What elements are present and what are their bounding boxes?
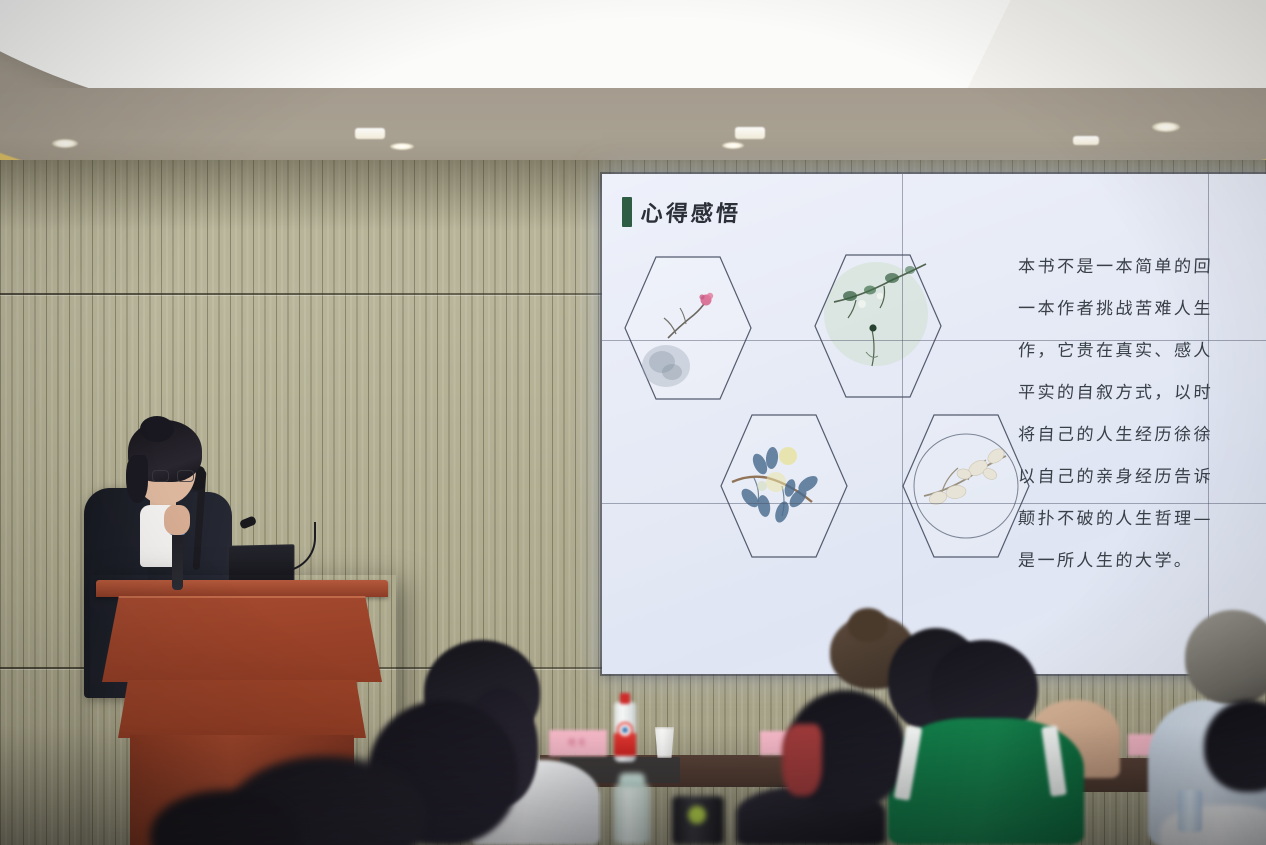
slide-title: 心得感悟: [640, 196, 743, 228]
hex-green-round-flowers: [814, 252, 942, 400]
lecture-hall-photo: 心得感悟: [0, 0, 1266, 845]
slide-body-line: 作，它贵在真实、感人: [1018, 330, 1266, 372]
namecard-left: 姓名: [549, 730, 607, 756]
ceiling-downlight: [390, 143, 414, 150]
bottle-cap: [620, 693, 630, 704]
slide-body-text: 本书不是一本简单的回一本作者挑战苦难人生作，它贵在真实、感人平实的自叙方式，以时…: [1018, 246, 1266, 582]
ceiling-downlight: [1152, 122, 1180, 132]
podium-front-panel: [102, 596, 382, 682]
slide-body-line: 本书不是一本简单的回: [1018, 246, 1266, 288]
podium-mid-panel: [118, 680, 366, 738]
audience-head-grey-hair: [1185, 610, 1266, 704]
presenter-hair-side: [126, 455, 148, 503]
ceiling-downlight: [1073, 136, 1099, 145]
bag-accent-dot: [688, 806, 706, 824]
led-bezel-row-1: [602, 340, 1266, 341]
ceiling-downlight: [722, 142, 744, 149]
hex-blue-leaves: [720, 412, 848, 560]
ceiling-downlight: [52, 139, 78, 148]
led-bezel-row-2: [602, 503, 1266, 504]
led-bezel-column-2: [1208, 174, 1209, 674]
slide-body-line: 是一所人生的大学。: [1018, 540, 1266, 582]
slide-body-line: 将自己的人生经历徐徐: [1018, 414, 1266, 456]
presenter-hand: [164, 505, 190, 535]
ceiling-downlight: [355, 128, 385, 139]
led-video-wall: 心得感悟: [602, 174, 1266, 674]
podium-top-surface: [96, 580, 388, 597]
audience-water-bottle-right: [1178, 790, 1202, 832]
slide-body-line: 一本作者挑战苦难人生: [1018, 288, 1266, 330]
led-bezel-column-1: [902, 174, 903, 674]
hex-plum-blossom: [624, 254, 752, 402]
hex-magnolia: [902, 412, 1030, 560]
water-bottle: [614, 702, 636, 762]
title-accent-bar: [622, 197, 632, 227]
slide-title-group: 心得感悟: [622, 196, 741, 228]
presenter-hair-bun: [140, 416, 174, 442]
slide-body-line: 以自己的亲身经历告诉: [1018, 456, 1266, 498]
slide-body-line: 平实的自叙方式，以时: [1018, 372, 1266, 414]
sport-bottle: [614, 784, 650, 845]
audience-hair-bun: [848, 608, 888, 642]
eyeglasses-icon: [152, 470, 194, 482]
audience-red-accessory: [782, 724, 822, 796]
ceiling-downlight: [735, 127, 765, 139]
